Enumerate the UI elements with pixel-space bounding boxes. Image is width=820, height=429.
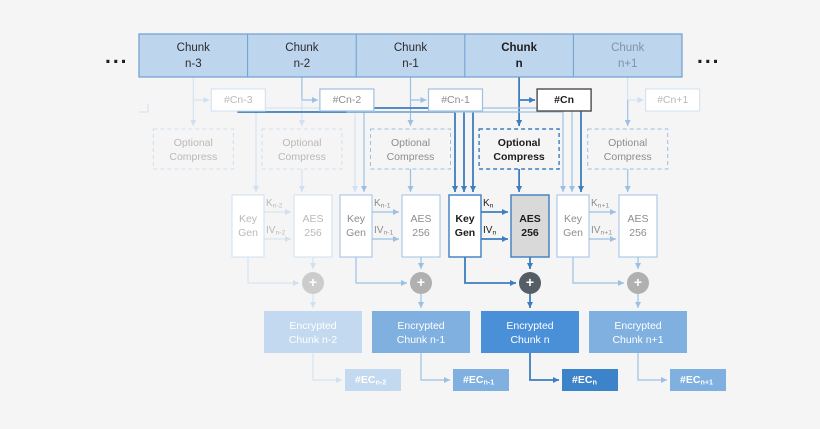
diagram-canvas: ... ... Chunkn-3Chunkn-2Chunkn-1ChunknCh… — [0, 0, 820, 429]
node-label: Kn-2 — [266, 198, 283, 210]
aes-box-crypto-n-1[interactable]: AES256 — [402, 195, 440, 257]
node-label: Optional — [174, 137, 213, 149]
node-label: Chunk — [611, 42, 644, 54]
connector — [313, 353, 342, 380]
node-label: Encrypted — [289, 320, 336, 332]
node-label: Key — [347, 213, 366, 225]
echash-box-echash-n-p1[interactable]: #ECn+1 — [670, 369, 726, 391]
connector — [638, 353, 667, 380]
node-label: AES — [627, 213, 648, 225]
hash-box-hash-cn-3[interactable]: #Cn-3 — [211, 89, 265, 111]
node-label: IVn-2 — [266, 225, 285, 237]
ellipsis-right: ... — [697, 46, 721, 67]
node-label: + — [417, 274, 425, 290]
node-label: n-2 — [294, 58, 311, 70]
encrypted-box-enc-n-1[interactable]: EncryptedChunk n-1 — [372, 311, 470, 353]
compress-box-compress-n-1[interactable]: OptionalCompress — [371, 129, 451, 169]
compress-box-compress-n-1-shape — [371, 129, 451, 169]
xor-node-xor-n-1[interactable]: + — [410, 272, 432, 294]
hash-box-hash-cn-2[interactable]: #Cn-2 — [320, 89, 374, 111]
compress-box-compress-n-shape — [479, 129, 559, 169]
node-label: #Cn-3 — [224, 94, 253, 106]
node-label: Chunk n-1 — [397, 334, 446, 346]
node-layer: Chunkn-3Chunkn-2Chunkn-1ChunknChunkn+1#C… — [139, 34, 726, 391]
node-label: AES — [410, 213, 431, 225]
hash-box-hash-cn-p1[interactable]: #Cn+1 — [646, 89, 700, 111]
node-label: Key — [564, 213, 583, 225]
keygen-box-crypto-n-2[interactable]: KeyGen — [232, 195, 264, 257]
node-label: n-3 — [185, 58, 202, 70]
node-label: Compress — [387, 151, 435, 163]
node-label: Chunk n+1 — [612, 334, 663, 346]
compress-box-compress-n-p1[interactable]: OptionalCompress — [588, 129, 668, 169]
node-label: 256 — [412, 227, 430, 239]
node-label: Compress — [169, 151, 217, 163]
node-label: Encrypted — [506, 320, 553, 332]
connector — [248, 257, 299, 283]
encrypted-box-enc-n-shape — [481, 311, 579, 353]
node-label: Gen — [455, 227, 475, 239]
node-label: n-1 — [402, 58, 419, 70]
echash-box-echash-n[interactable]: #ECn — [562, 369, 618, 391]
node-label: #Cn+1 — [657, 94, 688, 106]
node-label: IVn+1 — [591, 225, 612, 237]
connector — [465, 257, 516, 283]
encrypted-box-enc-n-2-shape — [264, 311, 362, 353]
node-label: #Cn-2 — [333, 94, 362, 106]
node-label: Encrypted — [614, 320, 661, 332]
connector — [238, 104, 256, 192]
node-label: Kn-1 — [374, 198, 391, 210]
node-label: Gen — [346, 227, 366, 239]
xor-node-xor-n-p1[interactable]: + — [627, 272, 649, 294]
node-label: Compress — [278, 151, 326, 163]
aes-box-crypto-n[interactable]: AES256 — [511, 195, 549, 257]
node-label: Optional — [608, 137, 647, 149]
chunk-band — [139, 34, 682, 77]
node-label: 256 — [521, 227, 539, 239]
keygen-box-crypto-n[interactable]: KeyGen — [449, 195, 481, 257]
node-label: Encrypted — [397, 320, 444, 332]
compress-box-compress-n[interactable]: OptionalCompress — [479, 129, 559, 169]
key-iv-labels-crypto-n-1: Kn-1IVn-1 — [374, 198, 393, 237]
aes-box-crypto-n-p1[interactable]: AES256 — [619, 195, 657, 257]
node-label: Optional — [282, 137, 321, 149]
echash-box-echash-n-1[interactable]: #ECn-1 — [453, 369, 509, 391]
node-label: 256 — [304, 227, 322, 239]
hash-box-hash-cn[interactable]: #Cn — [537, 89, 591, 111]
chunk-band-shape — [139, 34, 682, 77]
node-label: Gen — [238, 227, 258, 239]
node-label: #Cn-1 — [441, 94, 470, 106]
compress-box-compress-n-2-shape — [262, 129, 342, 169]
node-label: Key — [239, 213, 258, 225]
node-label: IVn — [483, 225, 496, 237]
node-label: Key — [455, 213, 474, 225]
node-label: + — [634, 274, 642, 290]
connector — [628, 77, 644, 100]
connector — [139, 104, 148, 112]
connector — [573, 257, 624, 283]
node-label: #Cn — [554, 94, 574, 106]
node-label: Chunk n-2 — [289, 334, 338, 346]
connector — [530, 353, 559, 380]
node-label: Chunk — [177, 42, 210, 54]
connector — [193, 77, 209, 100]
node-label: Chunk — [285, 42, 318, 54]
node-label: Chunk n — [510, 334, 549, 346]
node-label: Optional — [391, 137, 430, 149]
connector — [411, 77, 427, 100]
encrypted-box-enc-n-p1-shape — [589, 311, 687, 353]
node-label: Gen — [563, 227, 583, 239]
node-label: n — [516, 58, 523, 70]
compress-box-compress-n-2[interactable]: OptionalCompress — [262, 129, 342, 169]
node-label: Kn — [483, 198, 494, 210]
node-label: + — [526, 274, 534, 290]
encrypted-box-enc-n-2[interactable]: EncryptedChunk n-2 — [264, 311, 362, 353]
connector — [421, 353, 450, 380]
ellipsis-left: ... — [105, 46, 129, 67]
connector — [519, 77, 535, 100]
node-label: Optional — [498, 137, 541, 149]
key-iv-labels-crypto-n: KnIVn — [483, 198, 496, 237]
echash-box-echash-n-2[interactable]: #ECn-2 — [345, 369, 401, 391]
hash-box-hash-cn-1[interactable]: #Cn-1 — [429, 89, 483, 111]
node-label: IVn-1 — [374, 225, 393, 237]
node-label: Compress — [604, 151, 652, 163]
node-label: Compress — [493, 151, 545, 163]
node-label: AES — [302, 213, 323, 225]
node-label: 256 — [629, 227, 647, 239]
aes-box-crypto-n-2[interactable]: AES256 — [294, 195, 332, 257]
node-label: n+1 — [618, 58, 638, 70]
key-iv-labels-crypto-n-2: Kn-2IVn-2 — [266, 198, 285, 237]
node-label: Kn+1 — [591, 198, 609, 210]
node-label: AES — [519, 213, 541, 225]
connector — [302, 77, 318, 100]
node-label: Chunk — [394, 42, 427, 54]
compress-box-compress-n-3-shape — [153, 129, 233, 169]
key-iv-labels-crypto-n-p1: Kn+1IVn+1 — [591, 198, 612, 237]
connector — [356, 257, 407, 283]
compress-box-compress-n-p1-shape — [588, 129, 668, 169]
xor-node-xor-n-2[interactable]: + — [302, 272, 324, 294]
encrypted-box-enc-n[interactable]: EncryptedChunk n — [481, 311, 579, 353]
xor-node-xor-n[interactable]: + — [519, 272, 541, 294]
node-label: + — [309, 274, 317, 290]
node-label: Chunk — [501, 42, 537, 54]
encrypted-box-enc-n-p1[interactable]: EncryptedChunk n+1 — [589, 311, 687, 353]
encrypted-box-enc-n-1-shape — [372, 311, 470, 353]
keygen-box-crypto-n-p1[interactable]: KeyGen — [557, 195, 589, 257]
keygen-box-crypto-n-1[interactable]: KeyGen — [340, 195, 372, 257]
compress-box-compress-n-3[interactable]: OptionalCompress — [153, 129, 233, 169]
